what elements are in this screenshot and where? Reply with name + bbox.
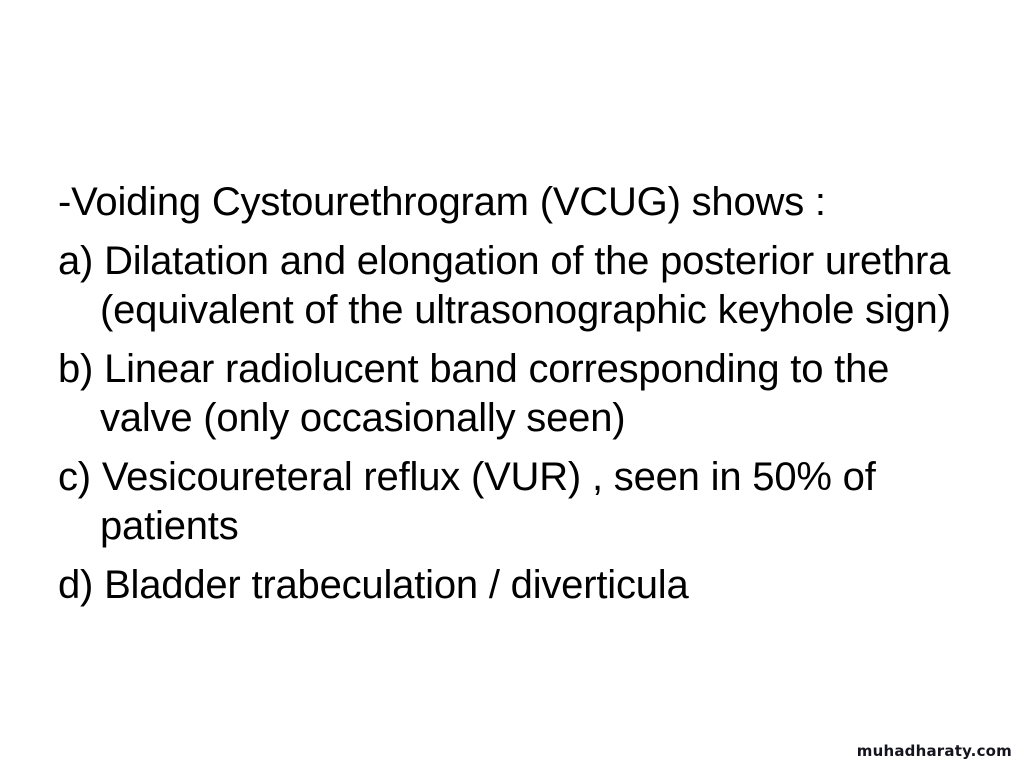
list-item-c: c) Vesicoureteral reflux (VUR) , seen in… xyxy=(58,453,968,551)
slide-body: -Voiding Cystourethrogram (VCUG) shows :… xyxy=(58,178,968,610)
list-item-b: b) Linear radiolucent band corresponding… xyxy=(58,345,968,443)
list-item-a: a) Dilatation and elongation of the post… xyxy=(58,237,968,335)
watermark-muhadharaty: muhadharaty.com xyxy=(857,742,1012,760)
slide-canvas: -Voiding Cystourethrogram (VCUG) shows :… xyxy=(0,0,1024,768)
list-item-d: d) Bladder trabeculation / diverticula xyxy=(58,561,968,610)
slide-heading: -Voiding Cystourethrogram (VCUG) shows : xyxy=(58,178,968,227)
